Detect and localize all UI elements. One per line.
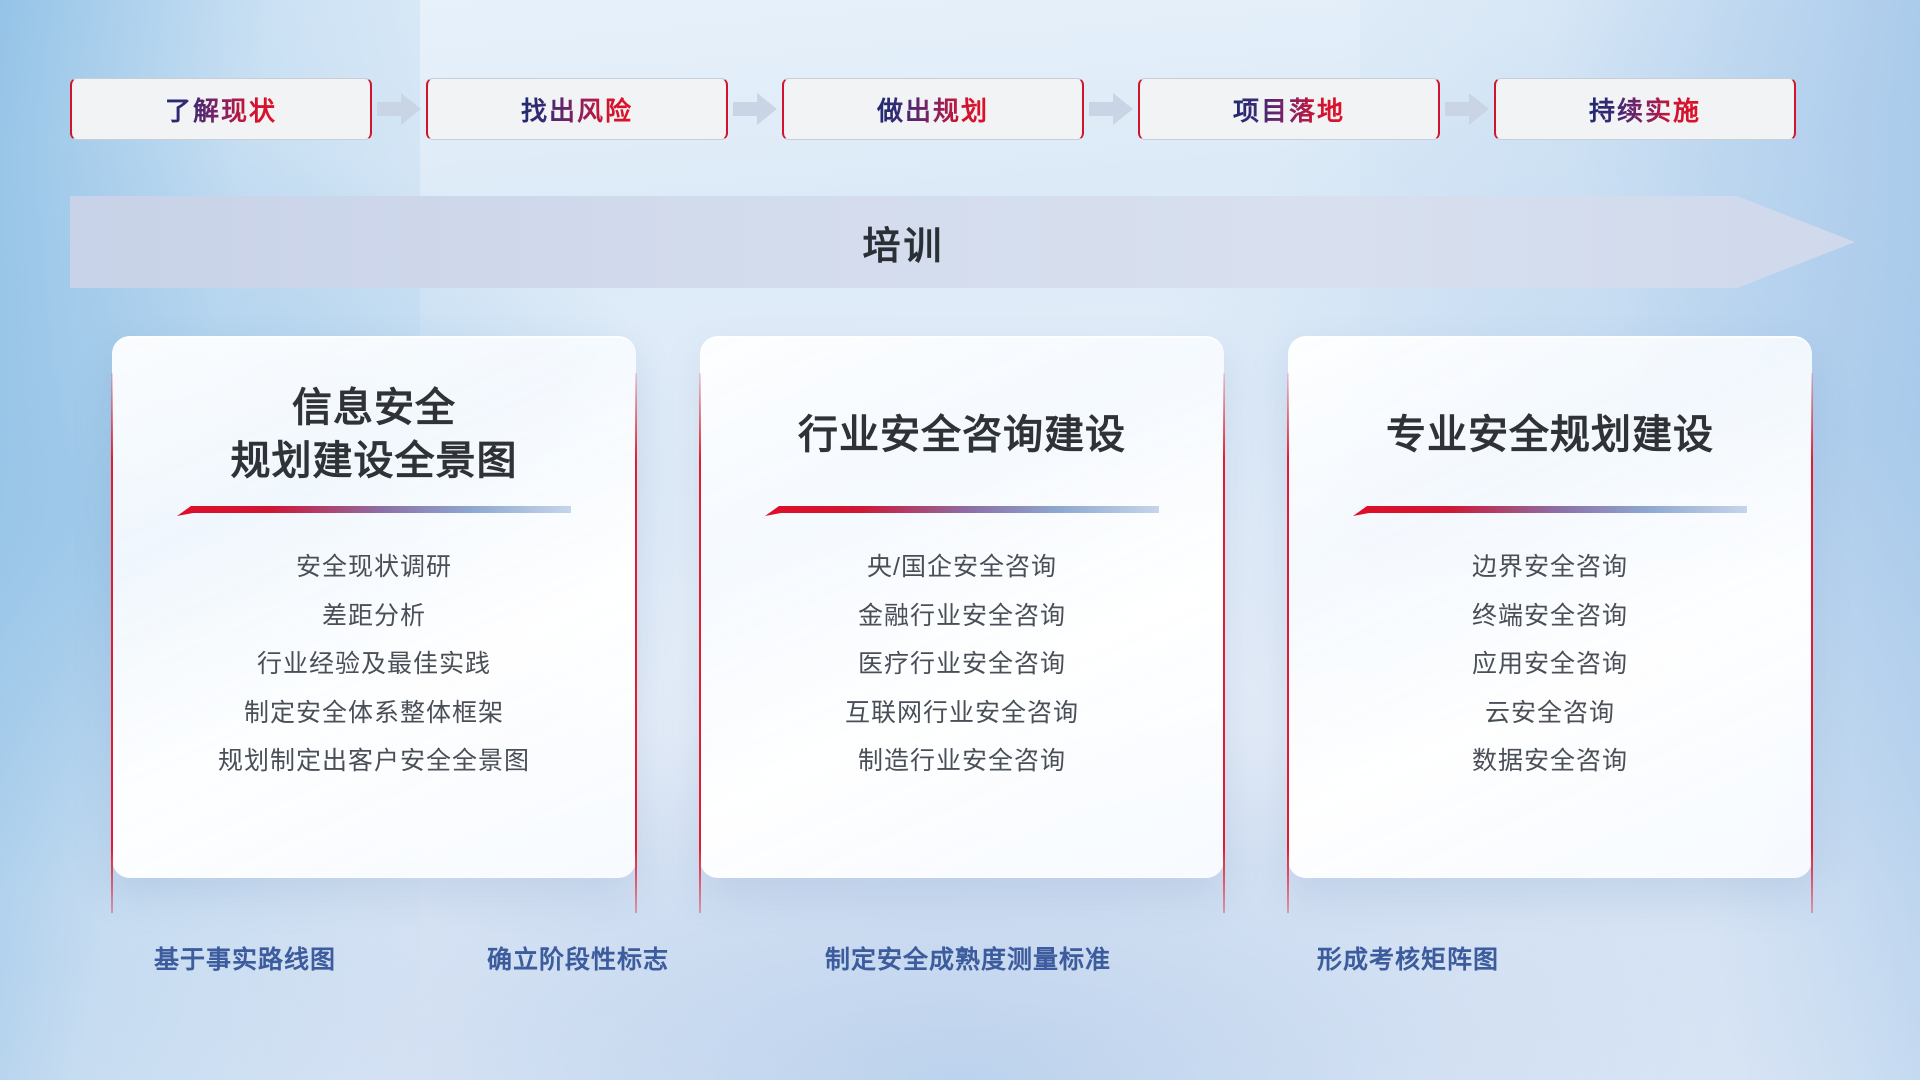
card-item-list: 边界安全咨询 终端安全咨询 应用安全咨询 云安全咨询 数据安全咨询: [1322, 550, 1778, 780]
list-item: 互联网行业安全咨询: [845, 696, 1079, 732]
list-item: 制定安全体系整体框架: [244, 696, 504, 732]
card-rail-right: [635, 373, 637, 913]
step-label: 找出风险: [521, 91, 633, 128]
step-label: 了解现状: [165, 91, 277, 128]
slide-canvas: 了解现状 找出风险 做出规划 项目落地 持续实施: [0, 0, 1920, 1080]
process-step-row: 了解现状 找出风险 做出规划 项目落地 持续实施: [70, 78, 1850, 140]
card-accent-line: [765, 503, 1159, 516]
list-item: 央/国企安全咨询: [867, 550, 1057, 586]
footer-label: 形成考核矩阵图: [1317, 940, 1499, 976]
card-rail-right: [1811, 373, 1813, 913]
card-rail-left: [1287, 373, 1289, 913]
banner-title: 培训: [70, 196, 1737, 288]
step-arrow-icon-4: [1440, 89, 1494, 129]
footer-label: 确立阶段性标志: [487, 940, 669, 976]
card-title-line1: 信息安全: [231, 382, 518, 435]
list-item: 金融行业安全咨询: [858, 599, 1066, 635]
step-box-5[interactable]: 持续实施: [1494, 78, 1796, 140]
card-info-security-blueprint[interactable]: 信息安全 规划建设全景图 安全现状调研 差距分析 行: [112, 336, 636, 878]
list-item: 数据安全咨询: [1472, 744, 1628, 780]
training-banner: 培训: [70, 196, 1855, 288]
card-item-list: 安全现状调研 差距分析 行业经验及最佳实践 制定安全体系整体框架 规划制定出客户…: [146, 550, 602, 780]
card-title-line1: 专业安全规划建设: [1386, 409, 1714, 462]
card-row: 信息安全 规划建设全景图 安全现状调研 差距分析 行: [112, 336, 1812, 886]
footer-label: 基于事实路线图: [154, 940, 336, 976]
step-box-2[interactable]: 找出风险: [426, 78, 728, 140]
list-item: 边界安全咨询: [1472, 550, 1628, 586]
list-item: 安全现状调研: [296, 550, 452, 586]
card-title: 行业安全咨询建设: [798, 381, 1126, 489]
step-label: 项目落地: [1233, 91, 1345, 128]
card-rail-left: [111, 373, 113, 913]
card-title: 专业安全规划建设: [1386, 381, 1714, 489]
card-industry-security-consulting[interactable]: 行业安全咨询建设 央/国企安全咨询 金融行业安全咨询: [700, 336, 1224, 878]
list-item: 制造行业安全咨询: [858, 744, 1066, 780]
list-item: 差距分析: [322, 599, 426, 635]
list-item: 终端安全咨询: [1472, 599, 1628, 635]
card-title: 信息安全 规划建设全景图: [231, 381, 518, 489]
step-box-3[interactable]: 做出规划: [782, 78, 1084, 140]
card-title-line2: 规划建设全景图: [231, 435, 518, 488]
list-item: 医疗行业安全咨询: [858, 647, 1066, 683]
card-professional-security-planning[interactable]: 专业安全规划建设 边界安全咨询 终端安全咨询 应用: [1288, 336, 1812, 878]
card-rail-left: [699, 373, 701, 913]
step-box-4[interactable]: 项目落地: [1138, 78, 1440, 140]
list-item: 行业经验及最佳实践: [257, 647, 491, 683]
card-item-list: 央/国企安全咨询 金融行业安全咨询 医疗行业安全咨询 互联网行业安全咨询 制造行…: [734, 550, 1190, 780]
step-label: 做出规划: [877, 91, 989, 128]
card-rail-right: [1223, 373, 1225, 913]
step-arrow-icon-2: [728, 89, 782, 129]
step-arrow-icon-3: [1084, 89, 1138, 129]
list-item: 规划制定出客户安全全景图: [218, 744, 530, 780]
list-item: 应用安全咨询: [1472, 647, 1628, 683]
card-title-line1: 行业安全咨询建设: [798, 409, 1126, 462]
footer-label: 制定安全成熟度测量标准: [825, 940, 1111, 976]
list-item: 云安全咨询: [1485, 696, 1615, 732]
step-arrow-icon-1: [372, 89, 426, 129]
card-accent-line: [177, 503, 571, 516]
footer-label-row: 基于事实路线图 确立阶段性标志 制定安全成熟度测量标准 形成考核矩阵图: [0, 940, 1920, 984]
card-accent-line: [1353, 503, 1747, 516]
step-label: 持续实施: [1589, 91, 1701, 128]
step-box-1[interactable]: 了解现状: [70, 78, 372, 140]
